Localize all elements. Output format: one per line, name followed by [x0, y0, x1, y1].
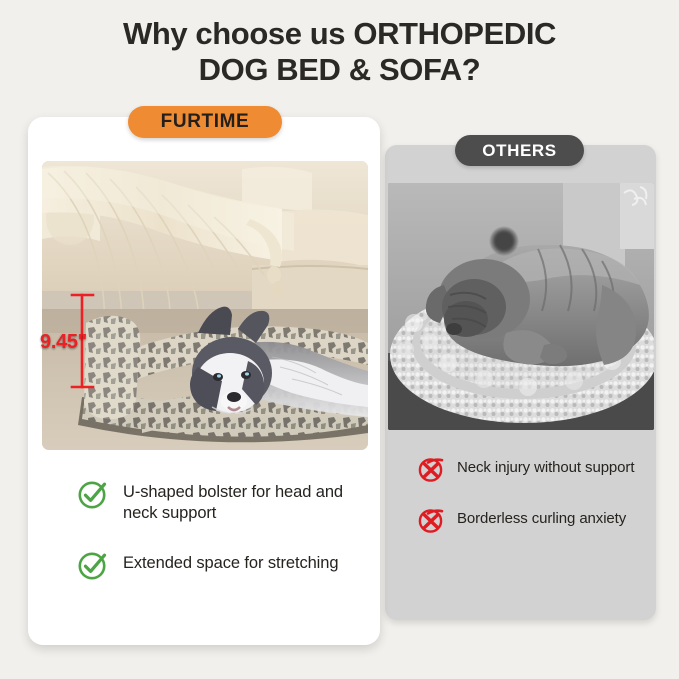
furtime-badge: FURTIME — [128, 106, 282, 138]
list-item-label: Borderless curling anxiety — [457, 509, 626, 528]
list-item: Extended space for stretching — [78, 553, 358, 580]
list-item-label: Extended space for stretching — [123, 553, 338, 574]
check-circle-icon — [78, 550, 108, 580]
others-product-photo — [388, 183, 654, 430]
page-title: Why choose us ORTHOPEDIC DOG BED & SOFA? — [0, 16, 679, 88]
list-item-label: U-shaped bolster for head and neck suppo… — [123, 482, 358, 524]
furtime-benefit-list: U-shaped bolster for head and neck suppo… — [78, 482, 358, 609]
list-item-label: Neck injury without support — [457, 458, 634, 477]
cross-circle-icon — [418, 456, 444, 482]
furtime-badge-label: FURTIME — [161, 111, 250, 133]
page-title-line-2: DOG BED & SOFA? — [0, 52, 679, 88]
check-circle-icon — [78, 479, 108, 509]
list-item: Neck injury without support — [418, 458, 643, 482]
others-badge-label: OTHERS — [482, 141, 556, 161]
furtime-product-photo — [42, 161, 368, 450]
dimension-value-label: 9.45" — [40, 331, 87, 354]
others-drawback-list: Neck injury without support Borderless c… — [418, 458, 643, 560]
cross-circle-icon — [418, 507, 444, 533]
others-badge: OTHERS — [455, 135, 584, 166]
list-item: U-shaped bolster for head and neck suppo… — [78, 482, 358, 524]
list-item: Borderless curling anxiety — [418, 509, 643, 533]
page-title-line-1: Why choose us ORTHOPEDIC — [0, 16, 679, 52]
